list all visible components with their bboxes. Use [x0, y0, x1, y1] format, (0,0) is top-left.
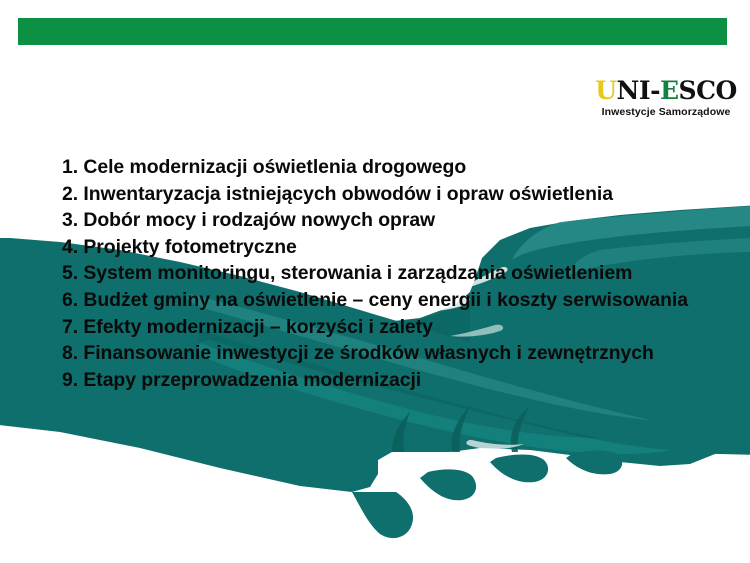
logo-letters-sco: SCO — [679, 76, 737, 105]
logo-letter-e: E — [660, 76, 679, 105]
agenda-item: 4. Projekty fotometryczne — [62, 234, 722, 261]
left-hand-highlight-2 — [396, 455, 442, 463]
slide-canvas: UNI-ESCO Inwestycje Samorządowe 1. Cele … — [0, 0, 750, 563]
logo-letter-u: U — [595, 76, 616, 105]
agenda-item: 8. Finansowanie inwestycji ze środków wł… — [62, 340, 722, 367]
left-hand-fingertips — [352, 450, 622, 538]
header-accent-bar — [18, 18, 727, 45]
agenda-item: 9. Etapy przeprowadzenia modernizacji — [62, 367, 722, 394]
uni-esco-logo: UNI-ESCO Inwestycje Samorządowe — [592, 78, 740, 118]
agenda-item: 5. System monitoringu, sterowania i zarz… — [62, 260, 722, 287]
left-hand-knuckles — [392, 406, 528, 452]
agenda-item: 1. Cele modernizacji oświetlenia drogowe… — [62, 154, 722, 181]
logo-dash: - — [650, 76, 660, 105]
agenda-item: 7. Efekty modernizacji – korzyści i zale… — [62, 314, 722, 341]
logo-tagline: Inwestycje Samorządowe — [592, 106, 740, 118]
logo-letters-ni: NI — [617, 76, 651, 105]
logo-wordmark: UNI-ESCO — [592, 78, 740, 103]
left-hand-highlight-3 — [466, 440, 524, 449]
left-hand-highlight-1 — [326, 500, 362, 518]
agenda-item: 3. Dobór mocy i rodzajów nowych opraw — [62, 207, 722, 234]
agenda-item: 6. Budżet gminy na oświetlenie – ceny en… — [62, 287, 722, 314]
agenda-list: 1. Cele modernizacji oświetlenia drogowe… — [62, 154, 722, 393]
agenda-item: 2. Inwentaryzacja istniejących obwodów i… — [62, 181, 722, 208]
